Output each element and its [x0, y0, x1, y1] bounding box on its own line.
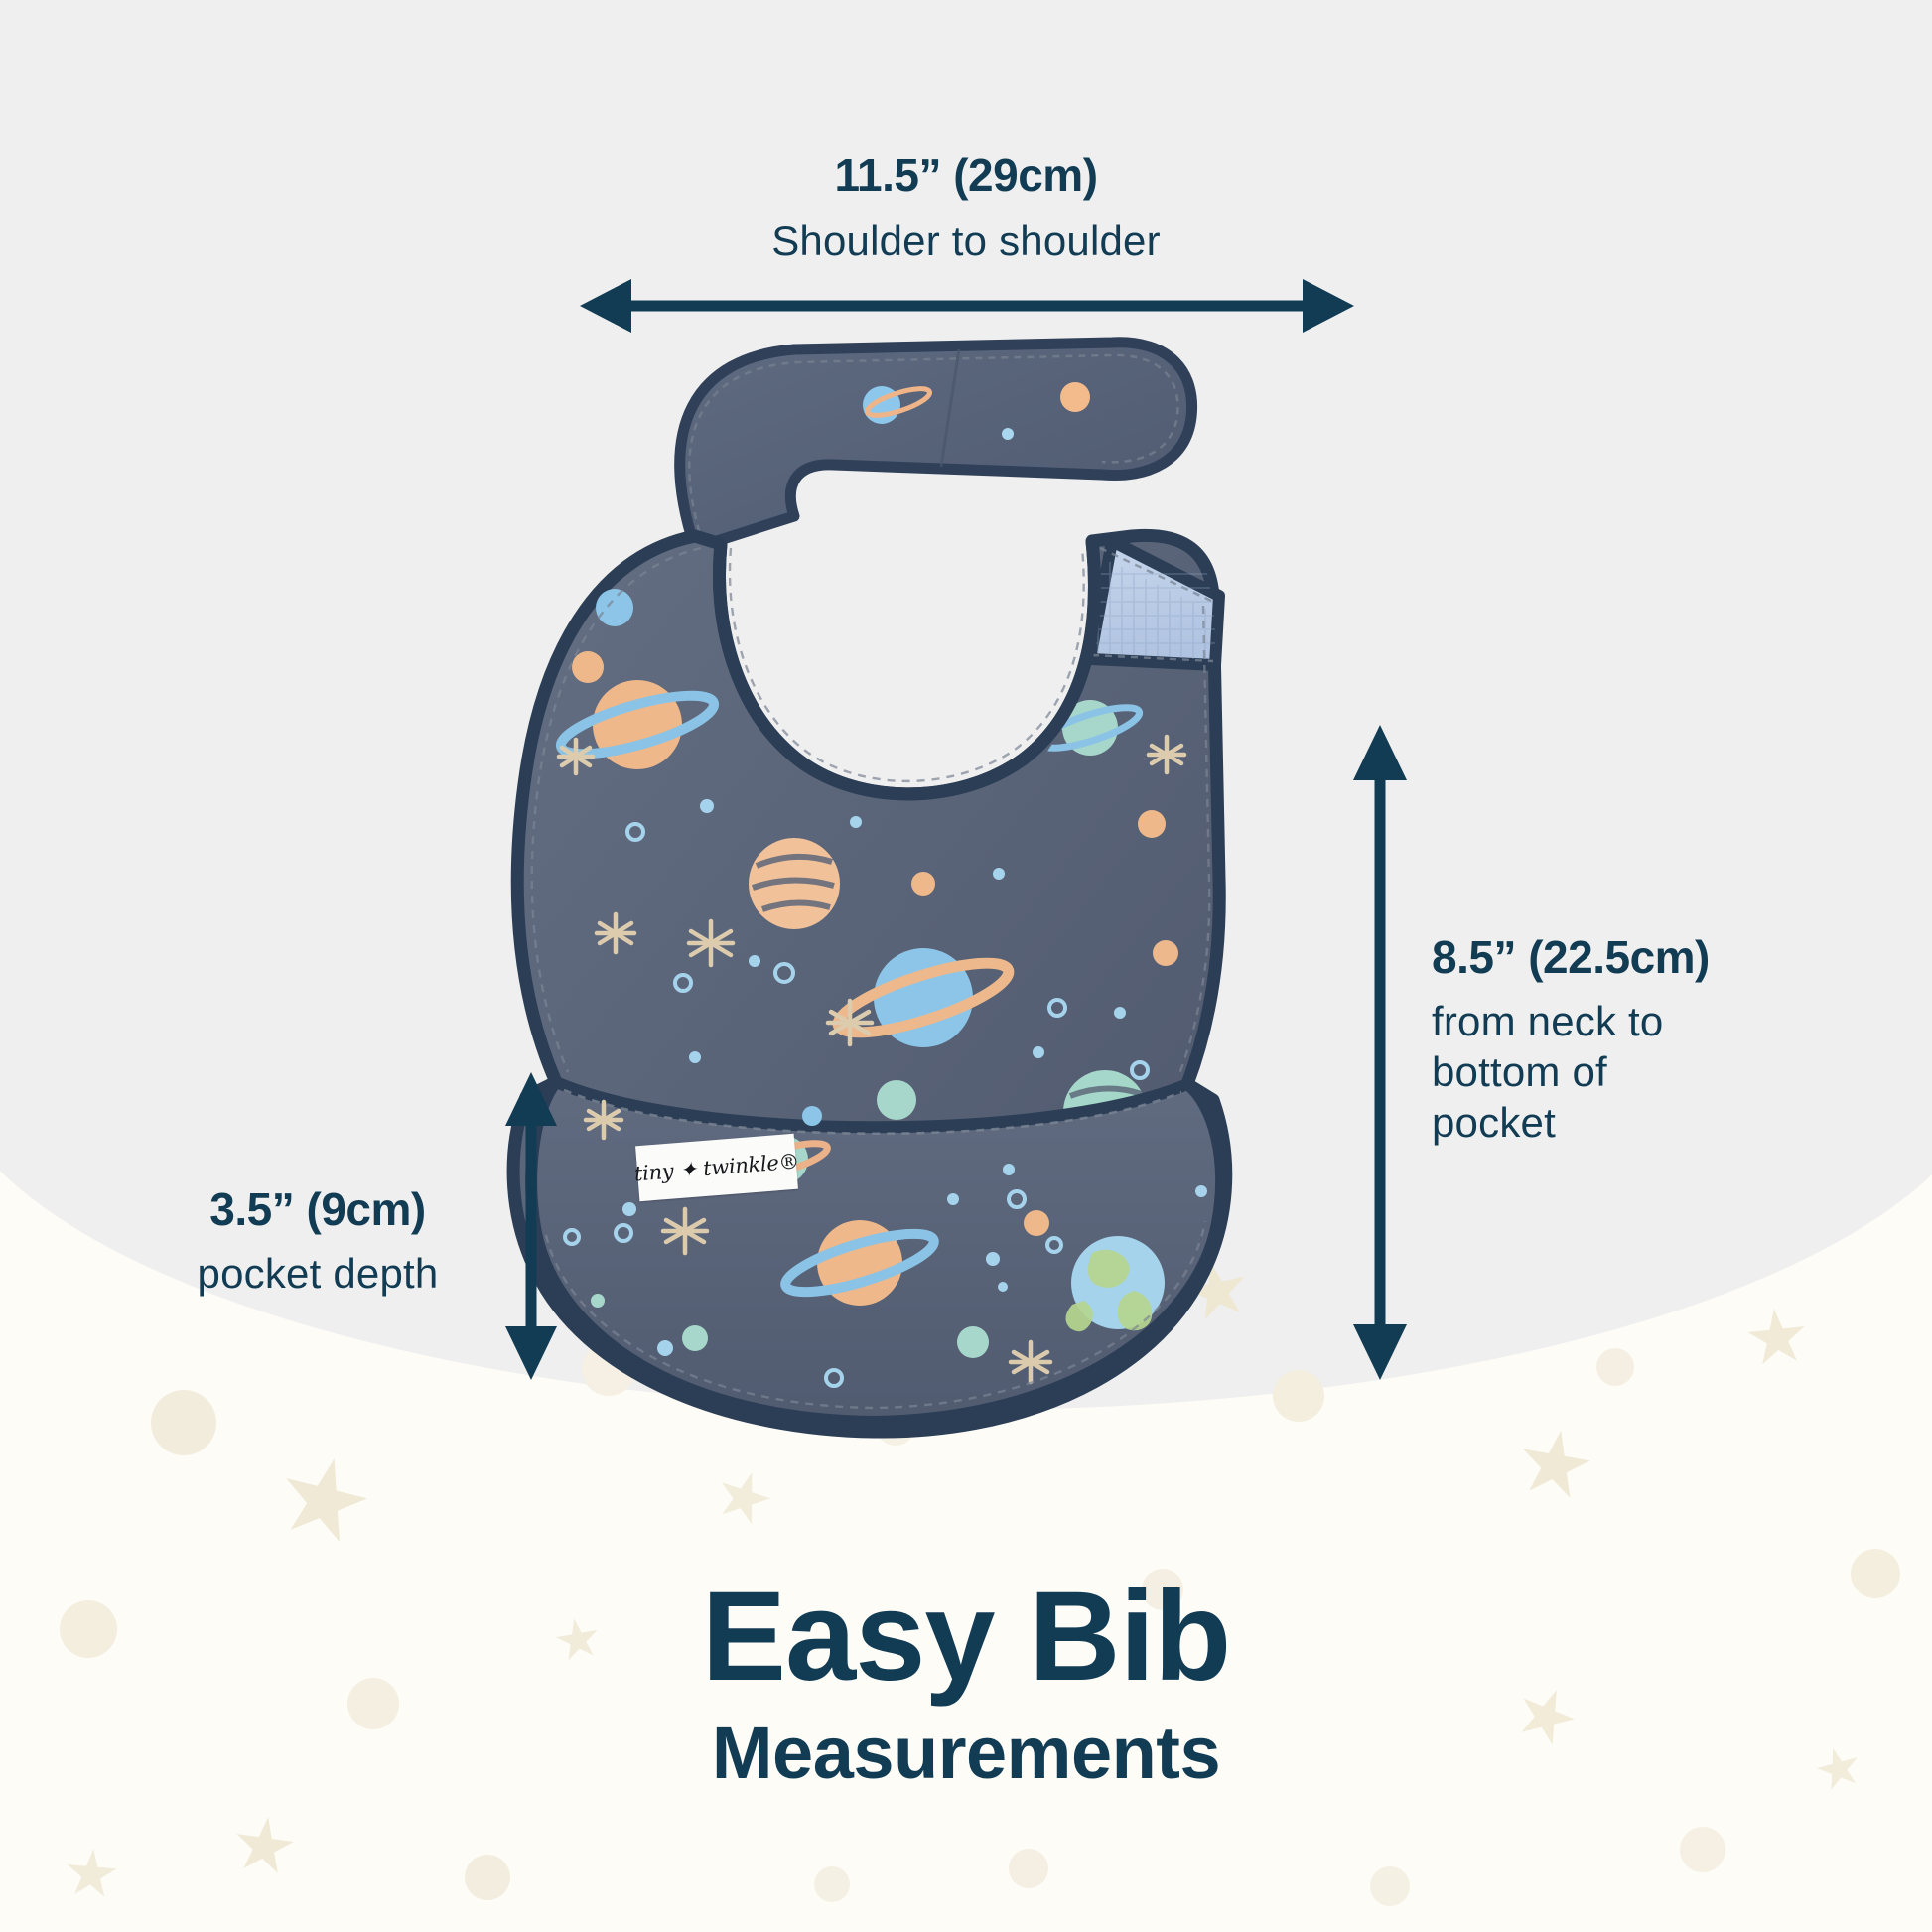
star-sparkle — [1744, 1306, 1810, 1371]
page-title: Easy Bib — [0, 1574, 1932, 1701]
measurement-value-pocket-depth: 3.5” (9cm) — [139, 1183, 496, 1236]
horizontal-double-arrow-icon — [580, 276, 1354, 336]
measurement-value-shoulder: 11.5” (29cm) — [0, 149, 1932, 202]
star-sparkle — [1370, 1866, 1410, 1906]
measurement-description-pocket-depth: pocket depth — [139, 1248, 496, 1299]
star-sparkle — [1273, 1370, 1324, 1422]
measurement-pocket-depth: 3.5” (9cm) pocket depth — [139, 1183, 496, 1299]
star-sparkle — [582, 1342, 635, 1396]
page-subtitle: Measurements — [0, 1715, 1932, 1792]
measurement-description-neck-to-pocket-line2: bottom of — [1432, 1046, 1868, 1097]
measurement-description-shoulder: Shoulder to shoulder — [0, 215, 1932, 266]
measurement-shoulder-to-shoulder: 11.5” (29cm) Shoulder to shoulder — [0, 149, 1932, 266]
infographic-canvas: tiny ✦ twinkle® 11.5” (29cm) Shoulder to… — [0, 0, 1932, 1932]
star-sparkle — [876, 1406, 915, 1446]
star-sparkle — [465, 1855, 510, 1900]
star-sparkle — [151, 1390, 216, 1455]
star-sparkle — [1513, 1424, 1595, 1506]
measurement-description-neck-to-pocket-line1: from neck to — [1432, 996, 1868, 1046]
star-sparkle — [64, 1847, 119, 1902]
star-sparkle — [1180, 1255, 1254, 1328]
star-sparkle — [1680, 1827, 1725, 1872]
brand-label-text: tiny ✦ twinkle® — [633, 1150, 800, 1186]
star-sparkle — [814, 1866, 850, 1902]
star-sparkle — [1009, 1849, 1048, 1888]
measurement-neck-to-pocket: 8.5” (22.5cm) from neck to bottom of poc… — [1432, 931, 1868, 1149]
vertical-double-arrow-icon-left — [501, 1072, 561, 1380]
star-sparkle — [1596, 1348, 1634, 1386]
star-sparkle — [230, 1813, 298, 1880]
vertical-double-arrow-icon-right — [1350, 725, 1410, 1380]
measurement-description-neck-to-pocket-line3: pocket — [1432, 1097, 1868, 1148]
measurement-value-neck-to-pocket: 8.5” (22.5cm) — [1432, 931, 1868, 984]
title-block: Easy Bib Measurements — [0, 1574, 1932, 1792]
